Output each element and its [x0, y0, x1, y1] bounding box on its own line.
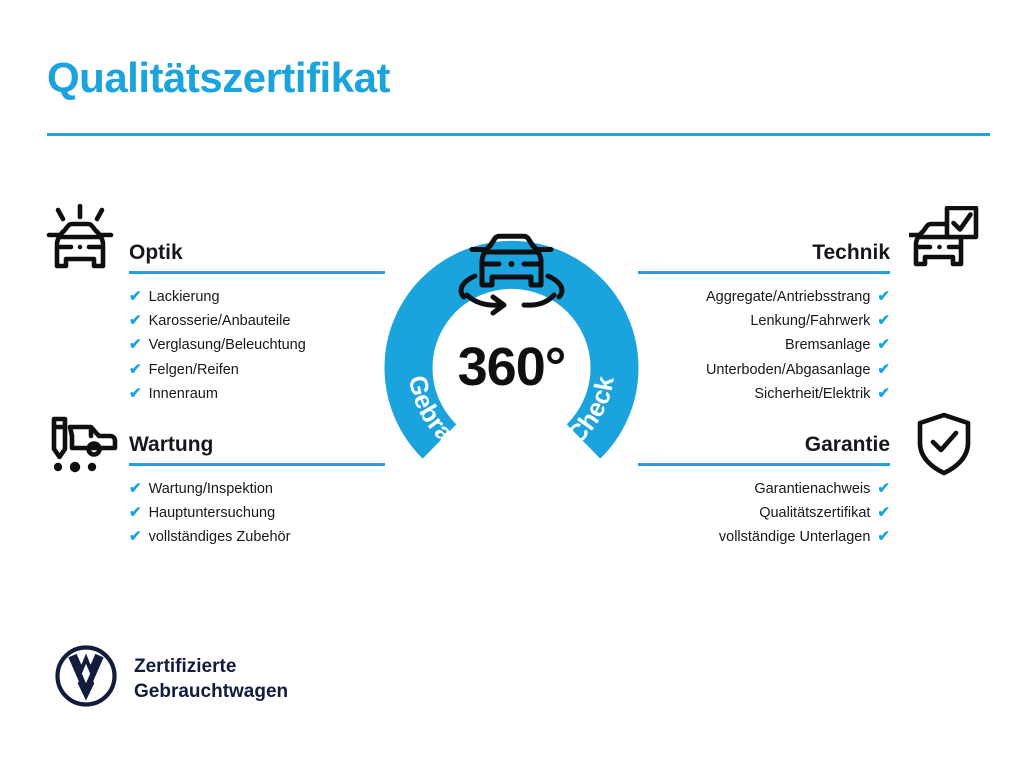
page-title: Qualitätszertifikat: [47, 52, 390, 104]
check-icon: ✔: [877, 480, 890, 497]
vw-lockup-line1: Zertifizierte: [134, 656, 236, 677]
list-item: ✔Karosserie/Anbauteile: [129, 309, 385, 333]
check-icon: ✔: [129, 504, 142, 521]
section-divider-optik: [129, 271, 385, 274]
check-icon: ✔: [877, 528, 890, 545]
list-item-label: Lackierung: [149, 289, 220, 305]
list-item-label: Wartung/Inspektion: [149, 481, 273, 497]
checklist-garantie: Garantienachweis✔ Qualitätszertifikat✔ v…: [638, 477, 890, 550]
list-item-label: Bremsanlage: [785, 337, 870, 353]
list-item: Aggregate/Antriebsstrang✔: [638, 285, 890, 309]
list-item: Garantienachweis✔: [638, 477, 890, 501]
list-item: ✔Felgen/Reifen: [129, 358, 385, 382]
section-title-optik: Optik: [129, 241, 183, 265]
checklist-technik: Aggregate/Antriebsstrang✔ Lenkung/Fahrwe…: [638, 285, 890, 406]
list-item: ✔Verglasung/Beleuchtung: [129, 333, 385, 357]
section-technik: Technik Aggregate/Antriebsstrang✔ Lenkun…: [638, 232, 890, 406]
check-icon: ✔: [129, 480, 142, 497]
section-header-garantie: Garantie: [638, 424, 890, 466]
badge-360-check: Gebrauchtwagen-Check: [371, 193, 652, 493]
vw-logo: [55, 645, 117, 712]
vw-lockup-text: Zertifizierte Gebrauchtwagen: [134, 654, 288, 704]
list-item: Sicherheit/Elektrik✔: [638, 382, 890, 406]
check-icon: ✔: [877, 288, 890, 305]
section-divider-technik: [638, 271, 890, 274]
list-item: Qualitätszertifikat✔: [638, 501, 890, 525]
list-item: ✔Hauptuntersuchung: [129, 501, 385, 525]
list-item-label: Karosserie/Anbauteile: [149, 313, 291, 329]
certificate-page: Qualitätszertifikat: [0, 0, 1024, 768]
vw-certified-lockup: Zertifizierte Gebrauchtwagen: [55, 645, 288, 712]
check-icon: ✔: [129, 288, 142, 305]
list-item: ✔Lackierung: [129, 285, 385, 309]
check-icon: ✔: [877, 312, 890, 329]
header-divider: [47, 133, 990, 136]
list-item: Bremsanlage✔: [638, 333, 890, 357]
section-divider-wartung: [129, 463, 385, 466]
check-icon: ✔: [877, 361, 890, 378]
section-garantie: Garantie Garantienachweis✔ Qualitätszert…: [638, 424, 890, 550]
check-icon: ✔: [877, 385, 890, 402]
vw-lockup-line2: Gebrauchtwagen: [134, 681, 288, 702]
section-header-technik: Technik: [638, 232, 890, 274]
badge-value: 360°: [371, 336, 652, 398]
check-icon: ✔: [129, 312, 142, 329]
section-header-wartung: Wartung: [129, 424, 385, 466]
check-icon: ✔: [129, 361, 142, 378]
check-icon: ✔: [129, 336, 142, 353]
list-item: vollständige Unterlagen✔: [638, 525, 890, 549]
section-title-garantie: Garantie: [805, 433, 890, 457]
check-icon: ✔: [129, 528, 142, 545]
list-item-label: Lenkung/Fahrwerk: [750, 313, 870, 329]
list-item-label: Verglasung/Beleuchtung: [149, 337, 306, 353]
list-item: ✔Wartung/Inspektion: [129, 477, 385, 501]
list-item-label: Aggregate/Antriebsstrang: [706, 289, 870, 305]
check-icon: ✔: [877, 504, 890, 521]
checklist-optik: ✔Lackierung ✔Karosserie/Anbauteile ✔Verg…: [129, 285, 385, 406]
list-item-label: Unterboden/Abgasanlage: [706, 362, 870, 378]
list-item-label: Innenraum: [149, 386, 218, 402]
list-item-label: Qualitätszertifikat: [759, 505, 870, 521]
list-item: Lenkung/Fahrwerk✔: [638, 309, 890, 333]
list-item: ✔Innenraum: [129, 382, 385, 406]
section-divider-garantie: [638, 463, 890, 466]
check-icon: ✔: [877, 336, 890, 353]
list-item-label: Felgen/Reifen: [149, 362, 239, 378]
checklist-wartung: ✔Wartung/Inspektion ✔Hauptuntersuchung ✔…: [129, 477, 385, 550]
section-optik: Optik ✔Lackierung ✔Karosserie/Anbauteile…: [129, 232, 385, 406]
list-item: Unterboden/Abgasanlage✔: [638, 358, 890, 382]
section-title-technik: Technik: [812, 241, 890, 265]
list-item-label: vollständige Unterlagen: [719, 529, 871, 545]
section-wartung: Wartung ✔Wartung/Inspektion ✔Hauptunters…: [129, 424, 385, 550]
section-header-optik: Optik: [129, 232, 385, 274]
list-item-label: Hauptuntersuchung: [149, 505, 276, 521]
list-item-label: vollständiges Zubehör: [149, 529, 291, 545]
shield-check-icon: [915, 412, 973, 481]
car-shine-icon: [44, 204, 116, 281]
list-item: ✔vollständiges Zubehör: [129, 525, 385, 549]
list-item-label: Garantienachweis: [754, 481, 870, 497]
check-icon: ✔: [129, 385, 142, 402]
car-pencil-service-icon: [42, 414, 120, 481]
section-title-wartung: Wartung: [129, 433, 213, 457]
list-item-label: Sicherheit/Elektrik: [754, 386, 870, 402]
car-checkbox-icon: [909, 206, 979, 273]
